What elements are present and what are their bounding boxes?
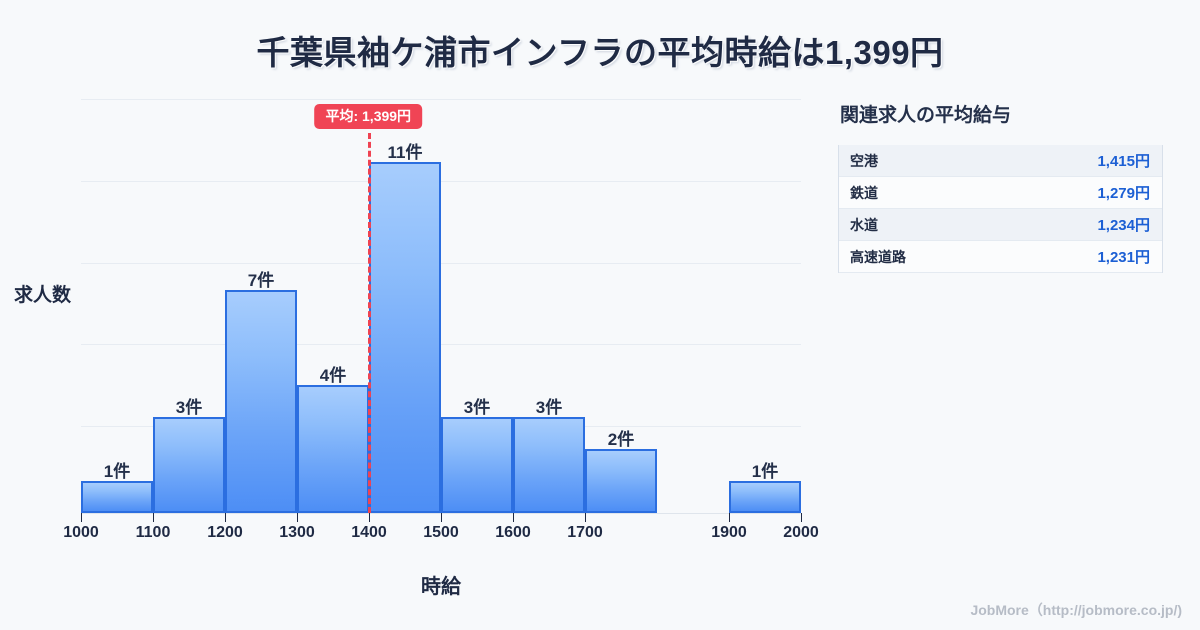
x-axis-tick — [225, 513, 226, 522]
histogram-bar — [297, 385, 369, 513]
x-axis-tick-label: 1100 — [136, 524, 171, 542]
x-axis-tick — [441, 513, 442, 522]
x-axis-tick — [801, 513, 802, 522]
salary-row-value: 1,415円 — [1097, 150, 1150, 171]
bar-value-label: 4件 — [297, 361, 369, 386]
bar-value-label: 3件 — [513, 393, 585, 418]
x-axis-tick-label: 2000 — [783, 524, 819, 542]
bar-value-label: 1件 — [729, 457, 801, 482]
x-axis-tick — [297, 513, 298, 522]
salary-row-name: 鉄道 — [850, 183, 878, 203]
gridline — [81, 181, 801, 182]
gridline — [81, 344, 801, 345]
x-axis-tick — [513, 513, 514, 522]
salary-row-value: 1,279円 — [1097, 182, 1150, 203]
histogram-bar — [153, 417, 225, 513]
x-axis-tick — [81, 513, 82, 522]
table-row[interactable]: 水道1,234円 — [839, 209, 1162, 241]
histogram-bar — [585, 449, 657, 513]
related-salary-title: 関連求人の平均給与 — [840, 100, 1163, 127]
x-axis-tick-label: 1900 — [711, 524, 747, 542]
footer-attribution: JobMore（http://jobmore.co.jp/) — [970, 600, 1182, 620]
histogram-bar — [369, 162, 441, 513]
table-row[interactable]: 空港1,415円 — [839, 145, 1162, 177]
histogram-bar — [81, 481, 153, 513]
average-line — [368, 133, 371, 513]
x-axis-tick — [729, 513, 730, 522]
x-axis-tick-label: 1000 — [63, 524, 99, 542]
salary-row-name: 空港 — [850, 151, 878, 171]
x-axis-tick — [153, 513, 154, 522]
histogram-bar — [225, 290, 297, 513]
bar-value-label: 7件 — [225, 266, 297, 291]
gridline — [81, 263, 801, 264]
average-badge: 平均: 1,399円 — [314, 104, 422, 129]
related-salary-panel: 関連求人の平均給与 空港1,415円鉄道1,279円水道1,234円高速道路1,… — [838, 100, 1163, 273]
x-axis-tick-label: 1200 — [207, 524, 243, 542]
x-axis-tick-label: 1700 — [567, 524, 603, 542]
salary-row-name: 高速道路 — [850, 247, 906, 267]
x-axis-tick-label: 1600 — [495, 524, 531, 542]
histogram-bar — [513, 417, 585, 513]
x-axis-tick-label: 1400 — [351, 524, 387, 542]
x-axis-tick — [369, 513, 370, 522]
salary-row-value: 1,234円 — [1097, 214, 1150, 235]
gridline — [81, 99, 801, 100]
y-axis-label: 求人数 — [14, 280, 71, 307]
x-axis-tick-label: 1500 — [423, 524, 459, 542]
x-axis-tick — [585, 513, 586, 522]
page-title: 千葉県袖ケ浦市インフラの平均時給は1,399円 — [0, 26, 1200, 74]
bar-value-label: 3件 — [153, 393, 225, 418]
table-row[interactable]: 高速道路1,231円 — [839, 241, 1162, 273]
related-salary-table: 空港1,415円鉄道1,279円水道1,234円高速道路1,231円 — [838, 145, 1163, 273]
histogram-bar — [441, 417, 513, 513]
salary-row-name: 水道 — [850, 215, 878, 235]
salary-row-value: 1,231円 — [1097, 246, 1150, 267]
bar-value-label: 1件 — [81, 457, 153, 482]
histogram-bar — [729, 481, 801, 513]
bar-value-label: 2件 — [585, 425, 657, 450]
bar-value-label: 11件 — [369, 138, 441, 163]
x-axis-tick-label: 1300 — [279, 524, 315, 542]
bar-value-label: 3件 — [441, 393, 513, 418]
table-row[interactable]: 鉄道1,279円 — [839, 177, 1162, 209]
x-axis-label: 時給 — [81, 570, 801, 599]
